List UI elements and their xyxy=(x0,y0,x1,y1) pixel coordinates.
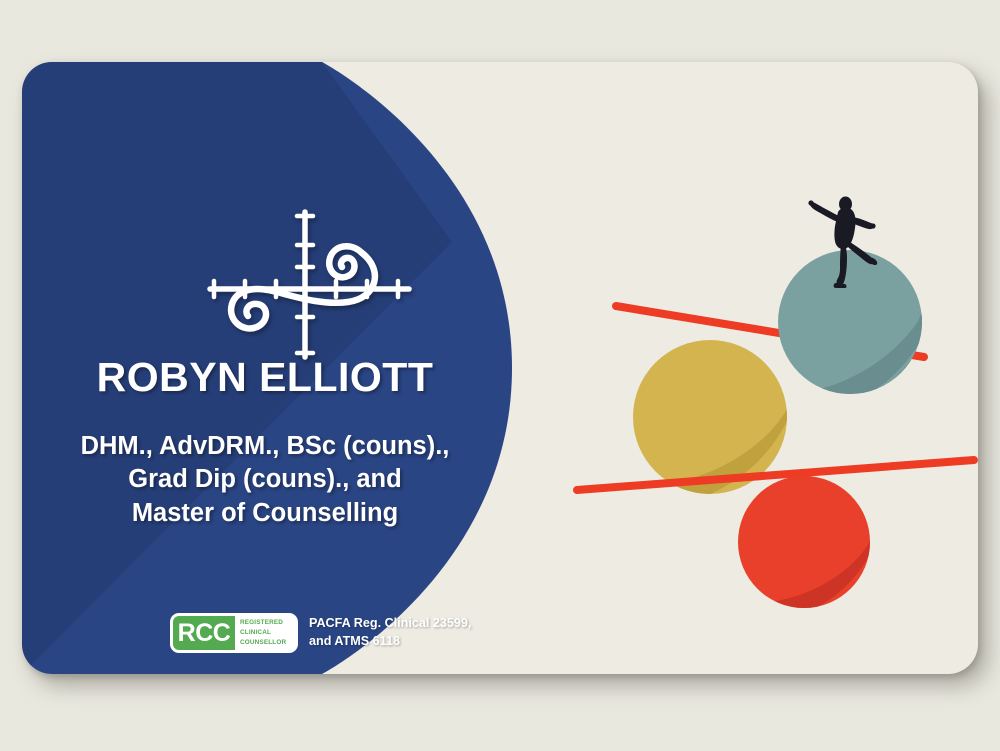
credentials-list: DHM., AdvDRM., BSc (couns)., Grad Dip (c… xyxy=(22,430,508,530)
registration-line: PACFA Reg. Clinical 23599, xyxy=(309,615,471,633)
red-sphere xyxy=(686,474,885,622)
axis-spiral-logo-icon xyxy=(188,190,420,374)
credentials-line: Master of Counselling xyxy=(22,497,508,530)
balance-spheres-illustration xyxy=(502,62,978,674)
rcc-badge-line: CLINICAL xyxy=(240,628,295,638)
identity-block: ROBYN ELLIOTT DHM., AdvDRM., BSc (couns)… xyxy=(22,354,508,530)
credentials-line: Grad Dip (couns)., and xyxy=(22,463,508,496)
registration-text: PACFA Reg. Clinical 23599, and ATMS 6118 xyxy=(309,615,471,651)
rcc-mark: RCC xyxy=(173,616,235,650)
rcc-badge-text: REGISTERED CLINICAL COUNSELLOR xyxy=(235,616,295,650)
page-background: ROBYN ELLIOTT DHM., AdvDRM., BSc (couns)… xyxy=(0,0,1000,751)
registration-line: and ATMS 6118 xyxy=(309,633,471,651)
accreditation-row: RCC REGISTERED CLINICAL COUNSELLOR PACFA… xyxy=(170,613,471,653)
rcc-badge: RCC REGISTERED CLINICAL COUNSELLOR xyxy=(170,613,298,653)
rcc-badge-line: REGISTERED xyxy=(240,618,295,628)
credentials-line: DHM., AdvDRM., BSc (couns)., xyxy=(22,430,508,463)
business-card: ROBYN ELLIOTT DHM., AdvDRM., BSc (couns)… xyxy=(22,62,978,674)
rcc-badge-line: COUNSELLOR xyxy=(240,638,295,648)
page-title: ROBYN ELLIOTT xyxy=(22,354,508,401)
